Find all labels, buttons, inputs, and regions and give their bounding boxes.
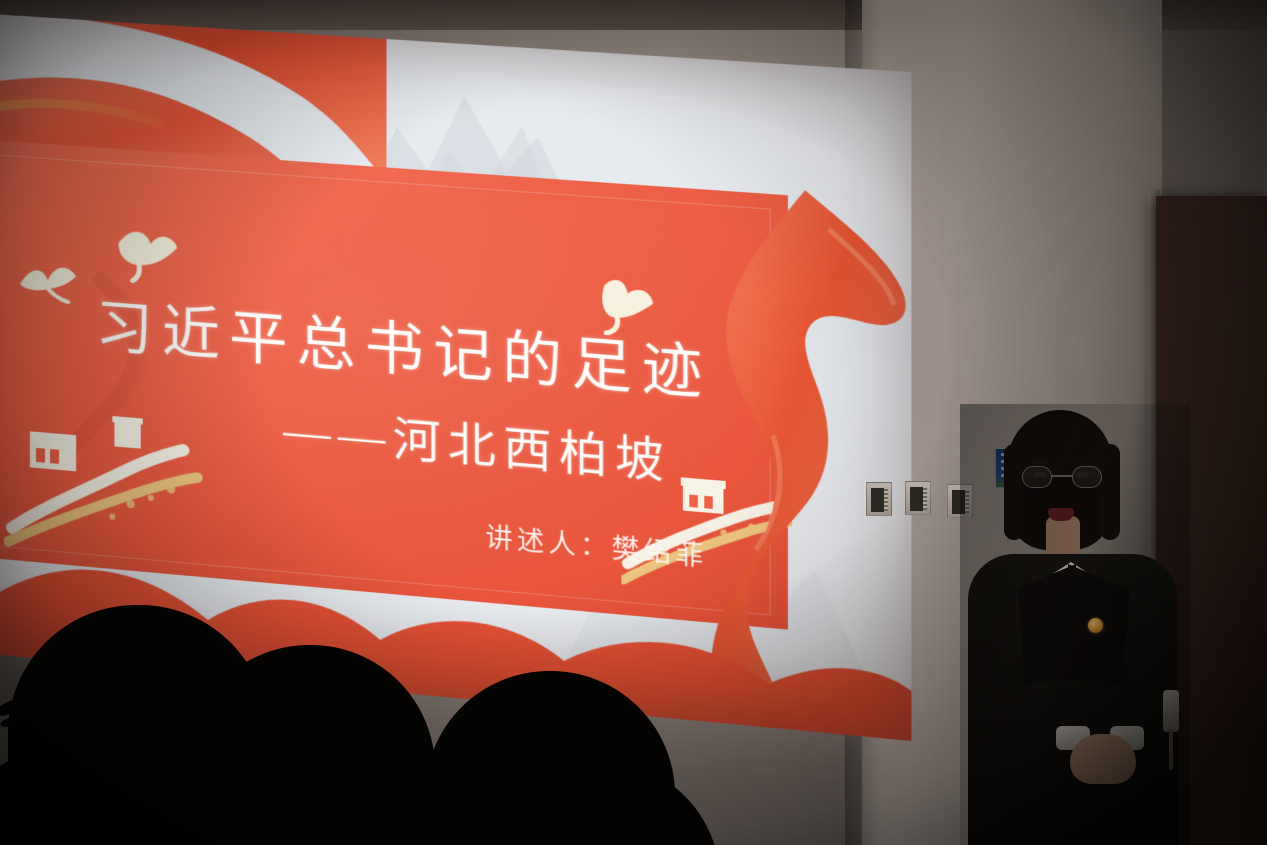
presenter-hands	[1070, 734, 1136, 784]
microphone-icon[interactable]	[1163, 690, 1179, 732]
microphone-stem	[1169, 730, 1173, 770]
presenter-brow-right	[1070, 460, 1094, 464]
light-switch-1[interactable]	[866, 482, 892, 516]
presenter-mouth	[1048, 508, 1074, 521]
dove-left-icon	[16, 254, 82, 311]
light-switch-2[interactable]	[905, 481, 931, 515]
presenter-brow-left	[1028, 460, 1052, 464]
presenter	[960, 404, 1190, 845]
presenter-badge-icon	[1088, 618, 1103, 633]
glasses-icon	[1022, 466, 1102, 488]
dove-upper-left-icon	[108, 223, 181, 287]
photo-scene: 习近平总书记的足迹 ——河北西柏坡 讲述人：樊绍菲	[0, 0, 1267, 845]
